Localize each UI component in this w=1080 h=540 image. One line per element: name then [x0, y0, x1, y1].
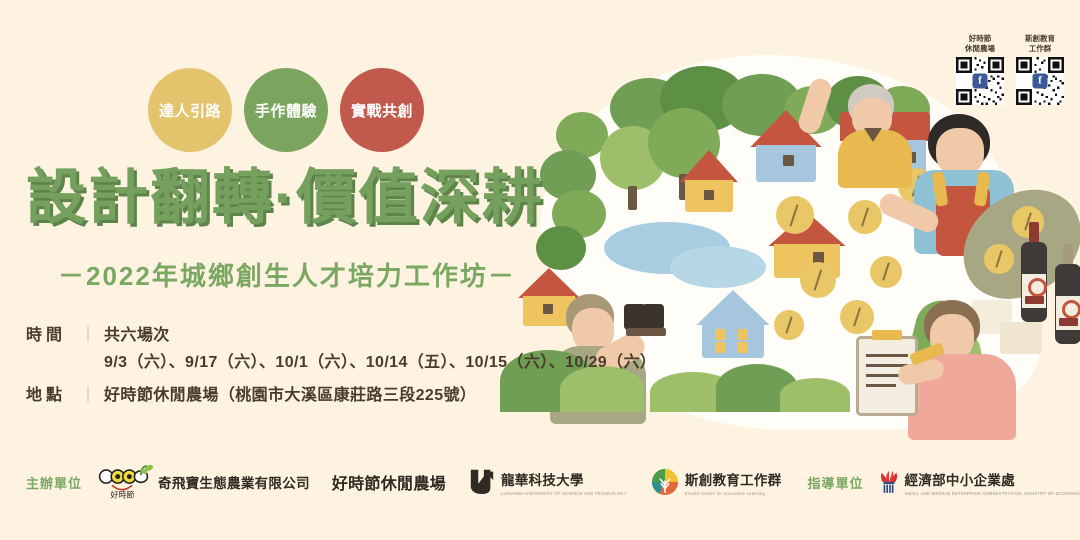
organizer-name: 好時節休閒農場	[332, 470, 446, 494]
tree-trunk	[628, 186, 637, 210]
organizer-name: 奇飛寶生態農業有限公司	[158, 472, 310, 492]
info-separator: ｜	[80, 384, 96, 408]
info-value-line1: 共六場次	[104, 327, 170, 344]
qr-caption-line2: 工作群	[1029, 44, 1052, 53]
qr-caption-line1: 斯創教育	[1025, 34, 1055, 43]
qr-caption: 好時節 休閒農場	[956, 34, 1004, 54]
organizer-qifeibao: 好時節 奇飛寶生態農業有限公司	[96, 465, 310, 499]
badge-handmade-experience[interactable]: 手作體驗	[244, 68, 328, 152]
badge-label: 達人引路	[159, 100, 221, 121]
qr-caption: 斯創教育 工作群	[1016, 34, 1064, 54]
lunghwa-logo-icon	[468, 467, 496, 497]
qr-code-envied[interactable]: 斯創教育 工作群	[1016, 34, 1064, 105]
guidance-label: 指導單位	[808, 473, 864, 492]
pond-icon	[670, 246, 766, 288]
qr-caption-line1: 好時節	[969, 34, 992, 43]
qr-code-group: 好時節 休閒農場	[956, 34, 1064, 105]
badge-group: 達人引路 手作體驗 實戰共創	[148, 68, 438, 154]
lunghwa-svg	[468, 467, 496, 497]
soybean-icon	[776, 196, 814, 234]
info-separator: ｜	[80, 324, 96, 348]
good-sprout-svg: 好時節	[96, 465, 154, 500]
qr-image[interactable]: f	[1016, 57, 1064, 105]
svg-text:好時節: 好時節	[111, 490, 135, 500]
organizer-label: 主辦單位	[26, 473, 82, 492]
soybean-icon	[774, 310, 804, 340]
soybean-icon	[870, 256, 902, 288]
badge-label: 實戰共創	[351, 100, 413, 121]
good-sprout-logo-icon: 好時節	[96, 465, 154, 499]
envied-logo-icon	[651, 468, 679, 496]
info-value: 好時節休閒農場（桃園市大溪區康莊路三段225號）	[104, 384, 476, 408]
soybean-icon	[800, 262, 836, 298]
poster-root: 達人引路 手作體驗 實戰共創 設計翻轉·價值深耕 －2022年城鄉創生人才培力工…	[0, 0, 1080, 540]
info-label: 地點	[26, 384, 78, 408]
organizer-name: 龍華科技大學	[501, 473, 584, 488]
soy-sauce-bottle	[1052, 244, 1080, 344]
guidance-name: 經濟部中小企業處	[905, 473, 1015, 488]
info-label: 時間	[26, 324, 78, 348]
envied-svg	[651, 468, 679, 496]
info-row-time: 時間 ｜ 共六場次 9/3（六）、9/17（六）、10/1（六）、10/14（五…	[26, 324, 656, 375]
moea-svg	[878, 469, 900, 495]
footer: 主辦單位 好時節 奇飛寶生態農業有限公司	[0, 460, 1080, 504]
organizer-lunghwa: 龍華科技大學 LUNGHWA UNIVERSITY OF SCIENCE AND…	[468, 467, 627, 497]
info-row-location: 地點 ｜ 好時節休閒農場（桃園市大溪區康莊路三段225號）	[26, 384, 656, 408]
qr-code-haoshijie[interactable]: 好時節 休閒農場	[956, 34, 1004, 105]
facebook-icon: f	[1033, 74, 1048, 89]
organizer-name: 斯創教育工作群	[685, 473, 782, 488]
info-value: 共六場次 9/3（六）、9/17（六）、10/1（六）、10/14（五）、10/…	[104, 324, 656, 375]
soy-sauce-bottle	[1018, 222, 1050, 322]
info-value-line2: 9/3（六）、9/17（六）、10/1（六）、10/14（五）、10/15（六）…	[104, 351, 656, 375]
organizer-haoshijie-farm: 好時節休閒農場	[332, 470, 446, 494]
soybean-icon	[984, 244, 1014, 274]
organizer-tagline: EnviEd Centre for Innovative Learning	[685, 491, 782, 496]
qr-caption-line2: 休閒農場	[965, 44, 995, 53]
event-info: 時間 ｜ 共六場次 9/3（六）、9/17（六）、10/1（六）、10/14（五…	[26, 324, 656, 417]
bush-icon	[780, 378, 850, 412]
badge-practical-cocreation[interactable]: 實戰共創	[340, 68, 424, 152]
house-icon	[680, 150, 738, 212]
guidance-tagline: SMALL AND MEDIUM ENTERPRISE ADMINISTRATI…	[905, 491, 1080, 496]
person-clipboard	[850, 300, 1020, 430]
moea-logo-icon	[878, 469, 900, 495]
facebook-icon: f	[973, 74, 988, 89]
organizer-tagline: LUNGHWA UNIVERSITY OF SCIENCE AND TECHNO…	[501, 491, 627, 496]
guidance-moea: 經濟部中小企業處 SMALL AND MEDIUM ENTERPRISE ADM…	[878, 469, 1080, 496]
qr-image[interactable]: f	[956, 57, 1004, 105]
page-subtitle: －2022年城鄉創生人才培力工作坊－	[58, 256, 558, 293]
soybean-icon	[848, 200, 882, 234]
organizer-envied: 斯創教育工作群 EnviEd Centre for Innovative Lea…	[651, 468, 782, 496]
badge-label: 手作體驗	[255, 100, 317, 121]
house-icon	[696, 290, 770, 358]
page-title: 設計翻轉·價值深耕	[26, 168, 586, 228]
badge-expert-guide[interactable]: 達人引路	[148, 68, 232, 152]
